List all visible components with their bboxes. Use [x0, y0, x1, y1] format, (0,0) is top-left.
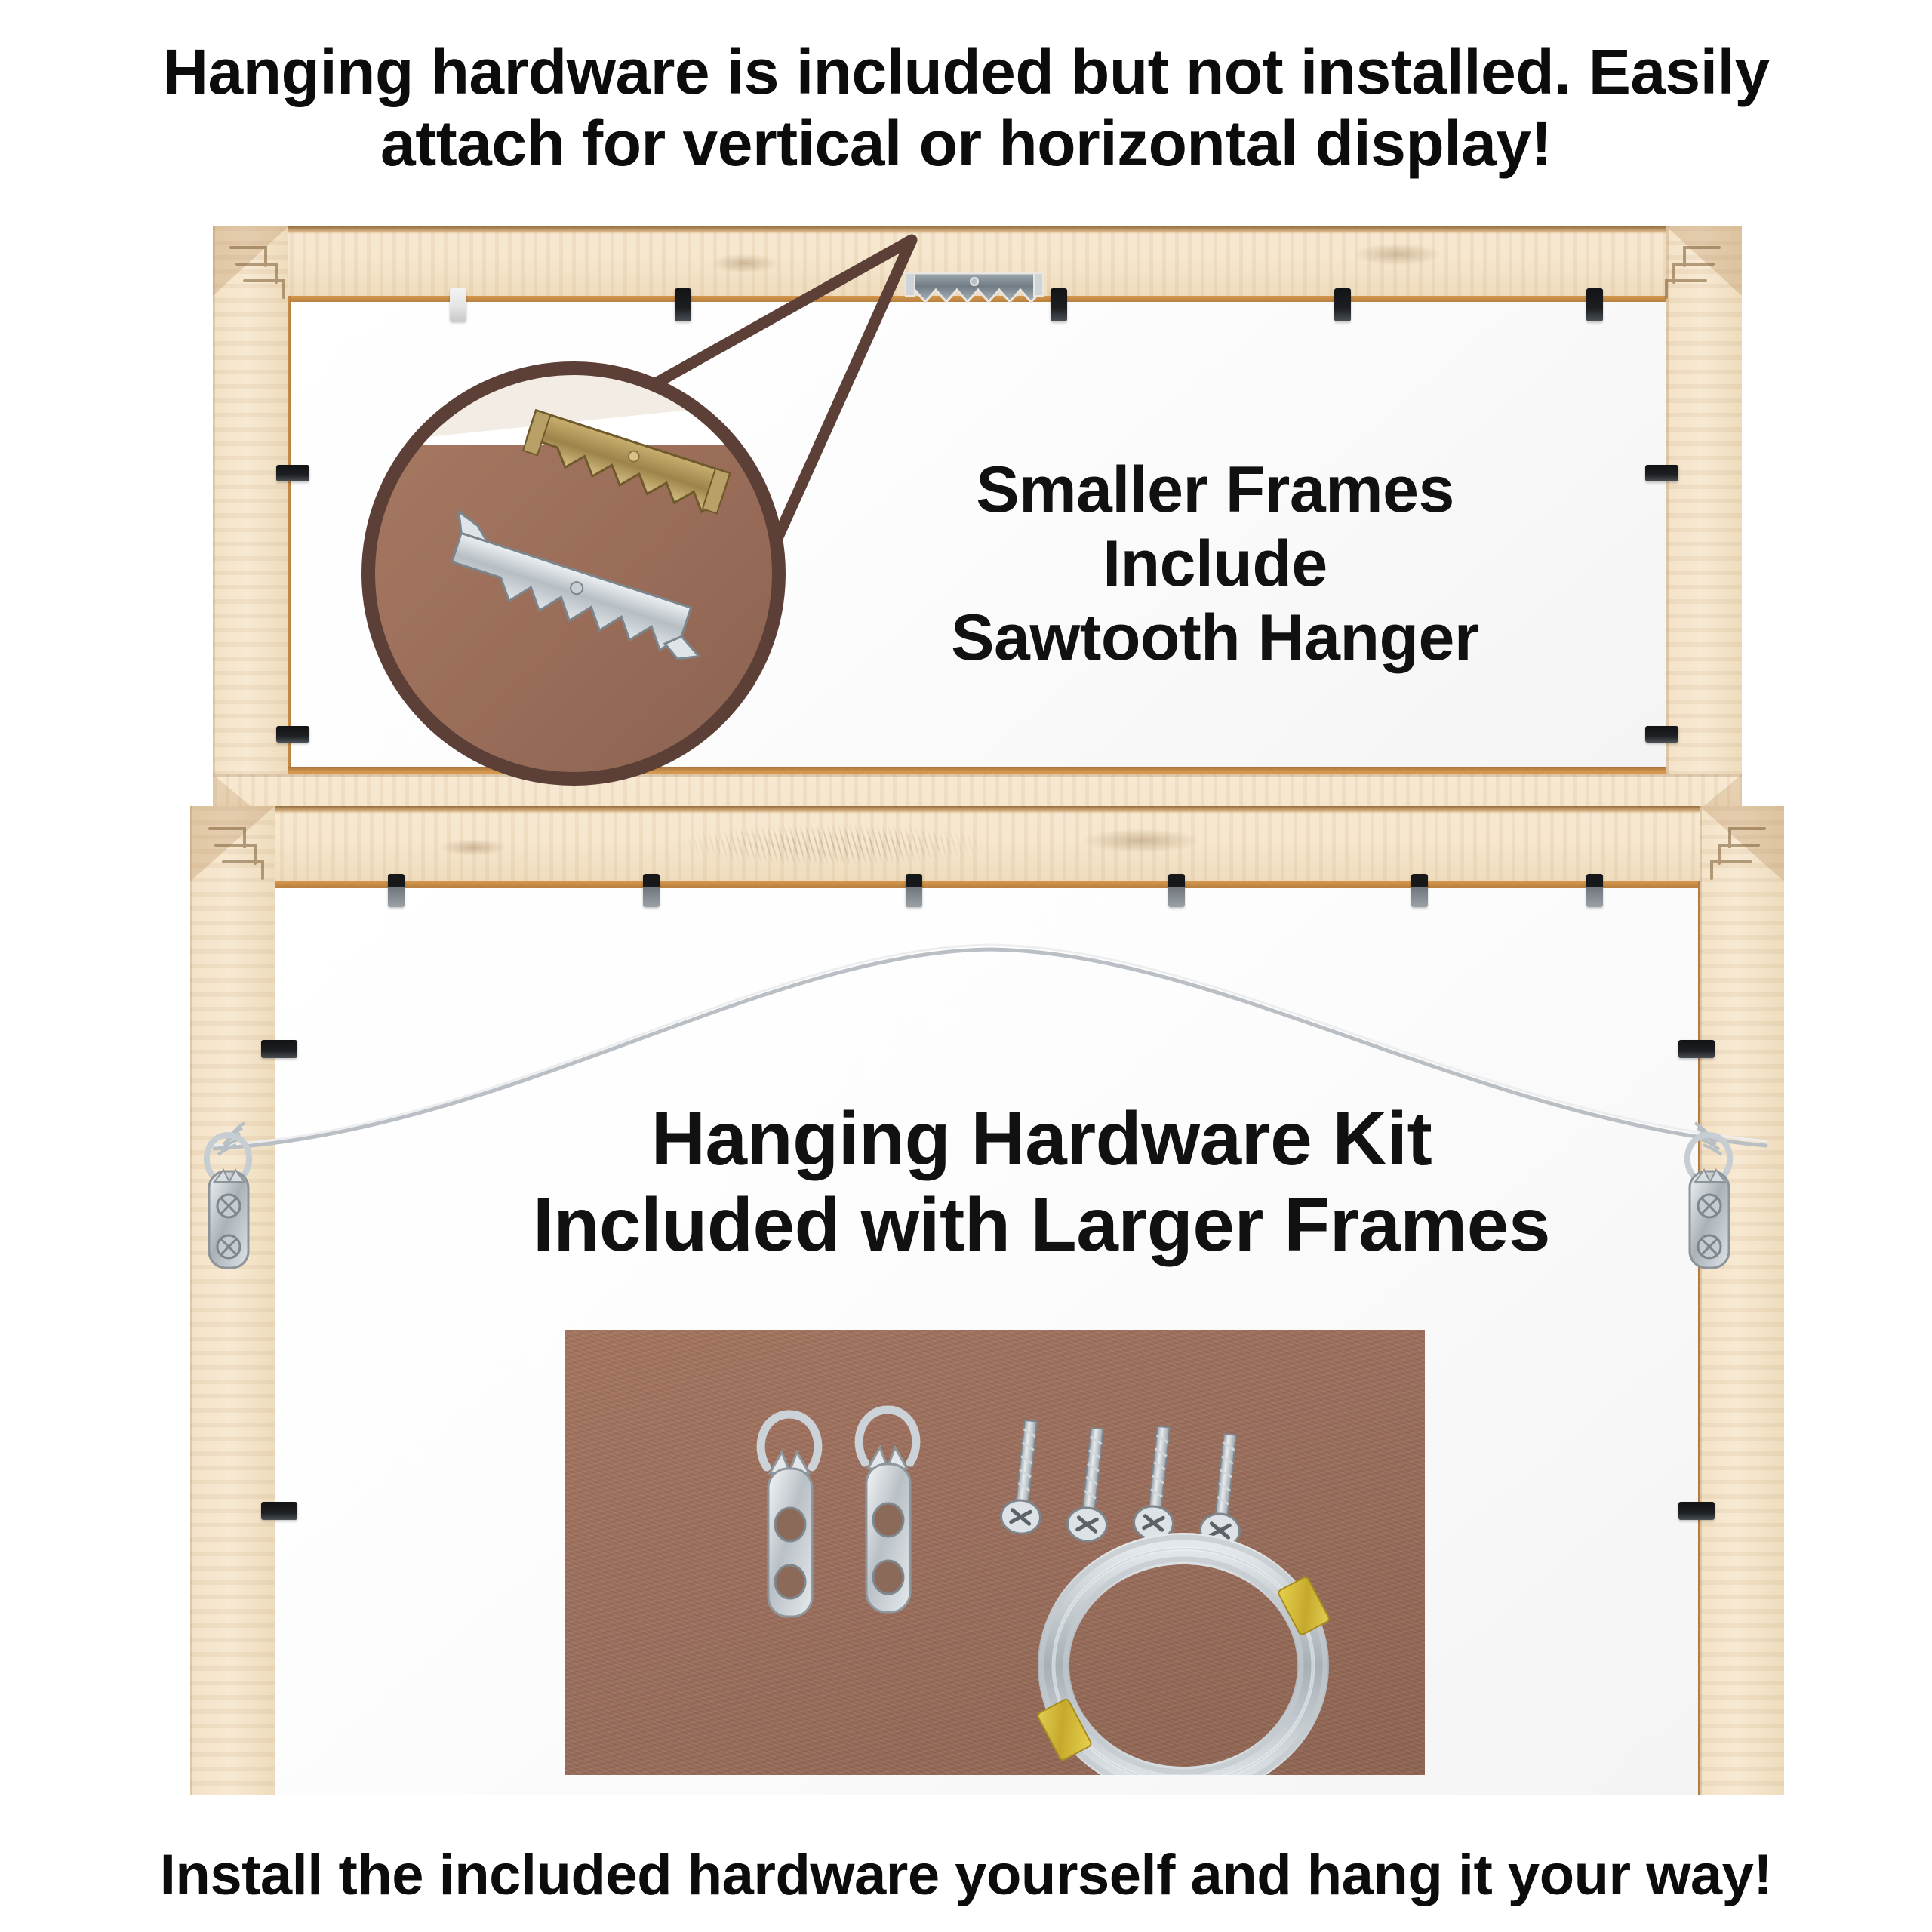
retainer-clip	[261, 1502, 297, 1520]
rail-printed-marking	[673, 824, 990, 865]
retainer-clip	[1051, 288, 1067, 321]
retainer-clip	[1645, 726, 1678, 743]
retainer-clip	[388, 874, 405, 907]
frame-rail-top	[190, 806, 1784, 881]
d-ring-hanger	[184, 1109, 275, 1283]
retainer-clip	[1334, 288, 1351, 321]
retainer-clip	[276, 726, 309, 743]
page-footer-caption: Install the included hardware yourself a…	[0, 1843, 1932, 1908]
retainer-clip	[643, 874, 660, 907]
rail-edge-highlight	[213, 226, 1742, 234]
retainer-clip	[1168, 874, 1185, 907]
retainer-clip	[1586, 288, 1603, 321]
frame-rail-right	[1666, 226, 1742, 838]
retainer-clip	[906, 874, 922, 907]
hanging-hardware-kit-photo	[565, 1330, 1425, 1775]
retainer-clip	[1645, 465, 1678, 481]
rail-edge-highlight	[190, 806, 1784, 814]
d-ring-hanger	[1665, 1109, 1755, 1283]
retainer-clip	[276, 465, 309, 481]
page-title: Hanging hardware is included but not ins…	[0, 36, 1932, 180]
braided-steel-hanging-wire	[189, 906, 1789, 1192]
magnified-sawtooth-detail	[332, 249, 1011, 830]
frame-rail-left	[213, 226, 288, 838]
retainer-clip	[1678, 1502, 1715, 1520]
retainer-clip	[1411, 874, 1428, 907]
infographic-canvas: Hanging hardware is included but not ins…	[0, 0, 1932, 1932]
retainer-clip	[1586, 874, 1603, 907]
